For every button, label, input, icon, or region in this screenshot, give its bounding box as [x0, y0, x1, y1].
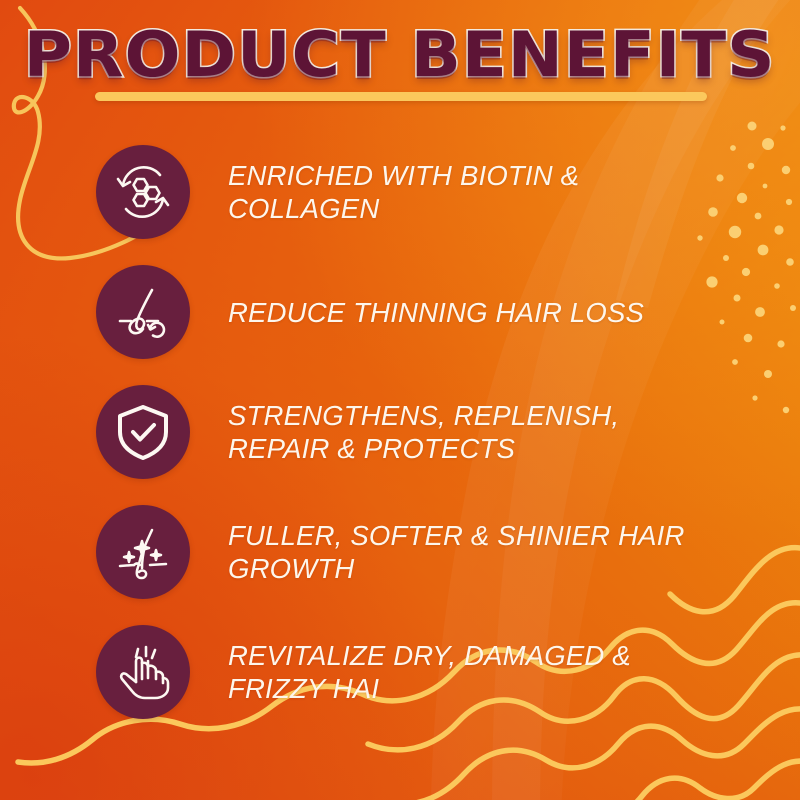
- benefit-icon-badge: [96, 385, 190, 479]
- benefit-icon-badge: [96, 265, 190, 359]
- benefit-row: REVITALIZE DRY, DAMAGED & FRIZZY HAI: [0, 612, 800, 732]
- page-title-text: PRODUCT BENEFITS: [24, 22, 776, 88]
- title-underline-bar: [95, 92, 707, 101]
- benefit-text: STRENGTHENS, REPLENISH, REPAIR & PROTECT…: [228, 399, 698, 465]
- hair-shine-sparkle-icon: [112, 521, 174, 583]
- benefit-text: FULLER, SOFTER & SHINIER HAIR GROWTH: [228, 519, 698, 585]
- shield-check-icon: [112, 401, 174, 463]
- hair-shine-sparkle-icon-badge: [96, 505, 190, 599]
- benefit-text: REVITALIZE DRY, DAMAGED & FRIZZY HAI: [228, 639, 698, 705]
- benefit-text: REDUCE THINNING HAIR LOSS: [228, 296, 644, 329]
- benefits-list: ENRICHED WITH BIOTIN & COLLAGEN REDUCE T…: [0, 132, 800, 732]
- benefit-row: FULLER, SOFTER & SHINIER HAIR GROWTH: [0, 492, 800, 612]
- benefit-text: ENRICHED WITH BIOTIN & COLLAGEN: [228, 159, 698, 225]
- benefit-row: REDUCE THINNING HAIR LOSS: [0, 252, 800, 372]
- hand-snap-icon: [112, 641, 174, 703]
- benefit-row: ENRICHED WITH BIOTIN & COLLAGEN: [0, 132, 800, 252]
- benefit-icon-badge: [96, 625, 190, 719]
- benefit-icon-badge: [96, 145, 190, 239]
- molecule-renewal-icon: [112, 161, 174, 223]
- hair-follicle-cycle-icon: [112, 281, 174, 343]
- page-title: PRODUCT BENEFITS: [0, 22, 800, 88]
- benefit-row: STRENGTHENS, REPLENISH, REPAIR & PROTECT…: [0, 372, 800, 492]
